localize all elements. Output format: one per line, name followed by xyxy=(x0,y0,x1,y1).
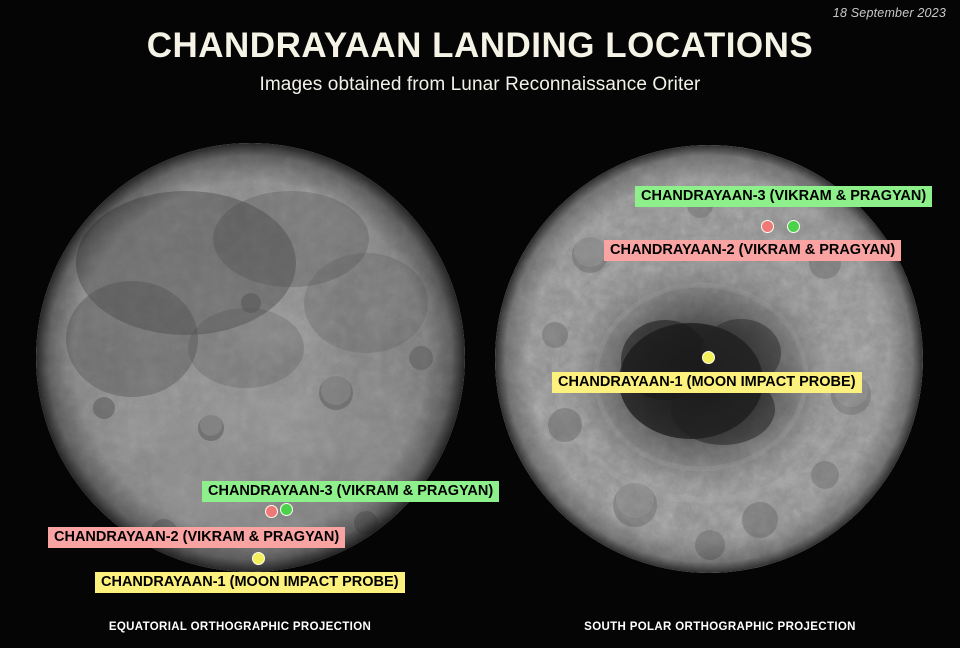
moon-image-equatorial xyxy=(36,143,465,572)
marker-chandrayaan-3-equatorial[interactable] xyxy=(280,503,293,516)
panel-south-polar: CHANDRAYAAN-3 (VIKRAM & PRAGYAN) CHANDRA… xyxy=(480,0,960,648)
marker-chandrayaan-3-south-polar[interactable] xyxy=(787,220,800,233)
label-chandrayaan-3-south-polar[interactable]: CHANDRAYAAN-3 (VIKRAM & PRAGYAN) xyxy=(635,186,932,207)
marker-chandrayaan-2-south-polar[interactable] xyxy=(761,220,774,233)
label-chandrayaan-2-equatorial[interactable]: CHANDRAYAAN-2 (VIKRAM & PRAGYAN) xyxy=(48,527,345,548)
marker-chandrayaan-1-equatorial[interactable] xyxy=(252,552,265,565)
label-chandrayaan-1-south-polar[interactable]: CHANDRAYAAN-1 (MOON IMPACT PROBE) xyxy=(552,372,862,393)
label-chandrayaan-2-south-polar[interactable]: CHANDRAYAAN-2 (VIKRAM & PRAGYAN) xyxy=(604,240,901,261)
panel-equatorial: CHANDRAYAAN-3 (VIKRAM & PRAGYAN) CHANDRA… xyxy=(0,0,480,648)
marker-chandrayaan-1-south-polar[interactable] xyxy=(702,351,715,364)
label-chandrayaan-3-equatorial[interactable]: CHANDRAYAAN-3 (VIKRAM & PRAGYAN) xyxy=(202,481,499,502)
caption-equatorial: EQUATORIAL ORTHOGRAPHIC PROJECTION xyxy=(0,621,480,633)
caption-south-polar: SOUTH POLAR ORTHOGRAPHIC PROJECTION xyxy=(480,621,960,633)
marker-chandrayaan-2-equatorial[interactable] xyxy=(265,505,278,518)
label-chandrayaan-1-equatorial[interactable]: CHANDRAYAAN-1 (MOON IMPACT PROBE) xyxy=(95,572,405,593)
infographic-canvas: 18 September 2023 CHANDRAYAAN LANDING LO… xyxy=(0,0,960,648)
